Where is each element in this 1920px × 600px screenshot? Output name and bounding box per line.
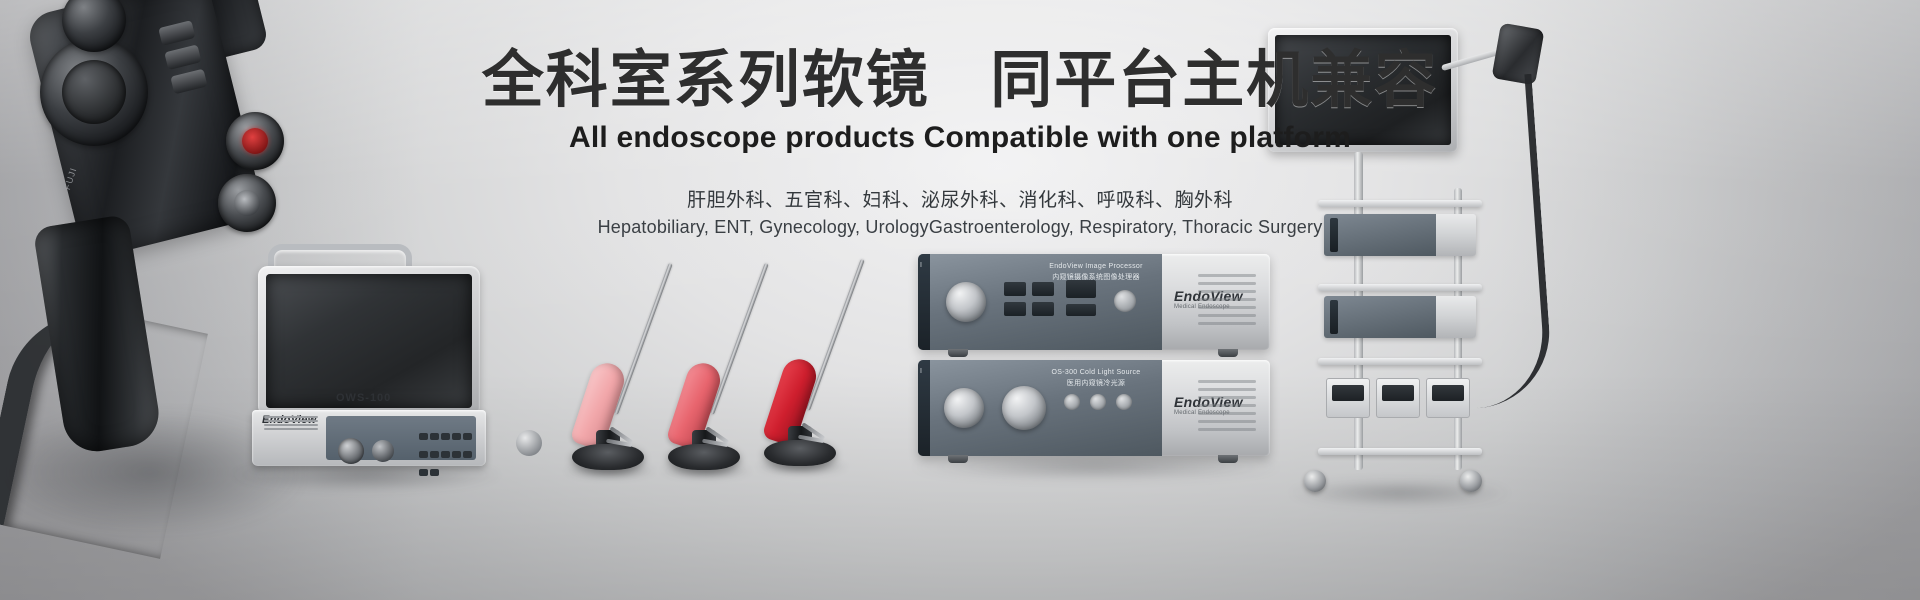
processor-display-window bbox=[1066, 280, 1096, 298]
headline-part-2: 同平台主机兼容 bbox=[990, 46, 1438, 115]
cart-shelf-3 bbox=[1318, 358, 1482, 365]
processor-button-3[interactable] bbox=[1004, 302, 1026, 316]
processor-title-en: EndoView Image Processor bbox=[1036, 262, 1156, 273]
light-source-button-3[interactable] bbox=[1116, 394, 1132, 410]
processor-foot-left bbox=[948, 349, 968, 357]
console-display bbox=[266, 274, 472, 408]
light-source-button-2[interactable] bbox=[1090, 394, 1106, 410]
cart-module-1-display bbox=[1332, 385, 1364, 401]
cart-device-2-panel bbox=[1324, 296, 1436, 338]
console-rotary-knob[interactable] bbox=[516, 430, 542, 456]
product-endoscope-workstation: OWS-100 EndoView bbox=[236, 250, 496, 490]
console-scope-port bbox=[338, 438, 364, 464]
cart-module-2-display bbox=[1382, 385, 1414, 401]
processor-foot-right bbox=[1218, 349, 1238, 357]
cart-device-2 bbox=[1324, 296, 1476, 338]
console-base-panel: OWS-100 EndoView bbox=[252, 410, 486, 466]
console-model-label: OWS-100 bbox=[336, 392, 391, 404]
cart-caster-right bbox=[1460, 470, 1482, 492]
light-source-side-strip: I bbox=[918, 360, 930, 456]
cart-module-3 bbox=[1426, 378, 1470, 418]
console-light-port bbox=[372, 440, 394, 462]
light-source-button-1[interactable] bbox=[1064, 394, 1080, 410]
processor-port-block bbox=[1066, 304, 1096, 316]
product-image-processor: I EndoView Image Processor 内窥镜摄像系统图像处理器 … bbox=[918, 254, 1270, 350]
processor-title-cn: 内窥镜摄像系统图像处理器 bbox=[1036, 273, 1156, 284]
banner-stage: FUJI OWS-100 EndoView bbox=[0, 0, 1920, 600]
cart-shelf-4 bbox=[1318, 448, 1482, 455]
light-source-front-panel: I OS-300 Cold Light Source 医用内窥镜冷光源 bbox=[918, 360, 1162, 456]
processor-vents bbox=[1198, 274, 1256, 330]
cart-module-3-display bbox=[1432, 385, 1464, 401]
product-cold-light-source: I OS-300 Cold Light Source 医用内窥镜冷光源 Endo… bbox=[918, 360, 1270, 456]
light-source-title-cn: 医用内窥镜冷光源 bbox=[1036, 379, 1156, 390]
cart-module-2 bbox=[1376, 378, 1420, 418]
processor-title-label: EndoView Image Processor 内窥镜摄像系统图像处理器 bbox=[1036, 262, 1156, 283]
specialties-list-cn: 肝胆外科、五官科、妇科、泌尿外科、消化科、呼吸科、胸外科 bbox=[0, 185, 1920, 212]
processor-button-1[interactable] bbox=[1004, 282, 1026, 296]
console-vent-slots bbox=[264, 416, 318, 428]
banner-text-block: 全科室系列软镜 同平台主机兼容 All endoscope products C… bbox=[0, 46, 1920, 238]
cart-shelf-2 bbox=[1318, 284, 1482, 291]
processor-side-strip: I bbox=[918, 254, 930, 350]
processor-scope-connector bbox=[1114, 290, 1136, 312]
instrument-shaft bbox=[806, 259, 864, 411]
light-source-foot-left bbox=[948, 455, 968, 463]
processor-button-2[interactable] bbox=[1032, 282, 1054, 296]
headline-part-1: 全科室系列软镜 bbox=[482, 46, 930, 115]
specialties-list-en: Hepatobiliary, ENT, Gynecology, UrologyG… bbox=[0, 217, 1920, 238]
processor-main-dial[interactable] bbox=[946, 282, 986, 322]
cart-caster-left bbox=[1304, 470, 1326, 492]
light-source-foot-right bbox=[1218, 455, 1238, 463]
console-keypad[interactable] bbox=[418, 428, 474, 460]
light-source-title-label: OS-300 Cold Light Source 医用内窥镜冷光源 bbox=[1036, 368, 1156, 389]
product-processor-stack: I EndoView Image Processor 内窥镜摄像系统图像处理器 … bbox=[918, 254, 1270, 470]
console-control-panel bbox=[326, 416, 476, 460]
product-rigid-instrument-3 bbox=[748, 250, 868, 480]
processor-front-panel: I EndoView Image Processor 内窥镜摄像系统图像处理器 bbox=[918, 254, 1162, 350]
light-source-output-port bbox=[944, 388, 984, 428]
processor-button-4[interactable] bbox=[1032, 302, 1054, 316]
light-source-title-en: OS-300 Cold Light Source bbox=[1036, 368, 1156, 379]
page-subtitle: All endoscope products Compatible with o… bbox=[0, 121, 1920, 155]
light-source-vents bbox=[1198, 380, 1256, 436]
cart-module-1 bbox=[1326, 378, 1370, 418]
light-source-brightness-knob[interactable] bbox=[1002, 386, 1046, 430]
page-title: 全科室系列软镜 同平台主机兼容 bbox=[0, 46, 1920, 115]
